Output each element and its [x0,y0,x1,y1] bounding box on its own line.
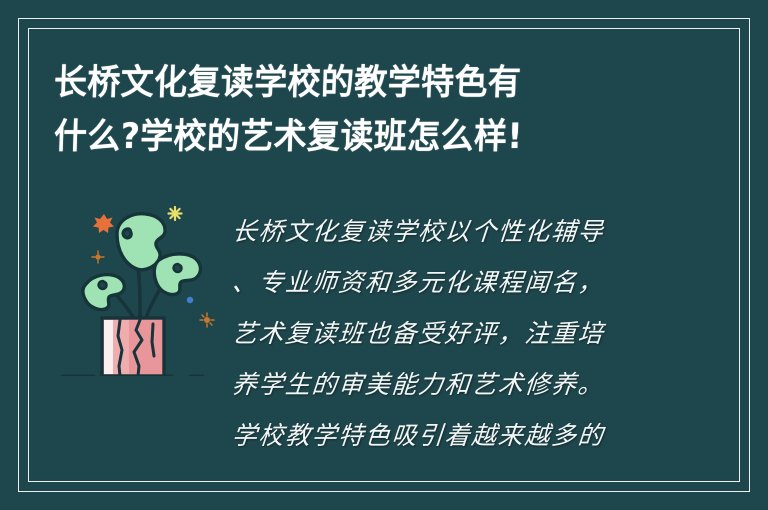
title-line-2: 什么?学校的艺术复读班怎么样! [53,110,656,164]
sparkle-amber-dot-right-icon [200,313,214,327]
title-line-1: 长桥文化复读学校的教学特色有 [53,56,656,110]
sparkle-orange-star-icon [93,214,114,233]
body-line-5: 学校教学特色吸引着越来越多的 [232,410,644,461]
cracked-pot [102,318,164,376]
body-line-3: 艺术复读班也备受好评，注重培 [232,308,644,359]
body-line-2: 、专业师资和多元化课程闻名， [232,257,644,308]
body-paragraph: 长桥文化复读学校以个性化辅导 、专业师资和多元化课程闻名， 艺术复读班也备受好评… [232,206,644,468]
body-line-1: 长桥文化复读学校以个性化辅导 [232,206,644,257]
page-title: 长桥文化复读学校的教学特色有 什么?学校的艺术复读班怎么样! [54,56,694,164]
body-line-4: 养学生的审美能力和艺术修养。 [232,359,644,410]
potted-plant-illustration [60,196,224,376]
sparkle-amber-dot-left-icon [92,251,104,263]
sparkle-blue-dot-right-icon [187,297,193,303]
leaf-left [83,275,124,310]
leaf-right [154,254,200,295]
poster-card: 长桥文化复读学校的教学特色有 什么?学校的艺术复读班怎么样! [0,0,768,510]
sparkle-yellow-burst-icon [169,207,182,220]
